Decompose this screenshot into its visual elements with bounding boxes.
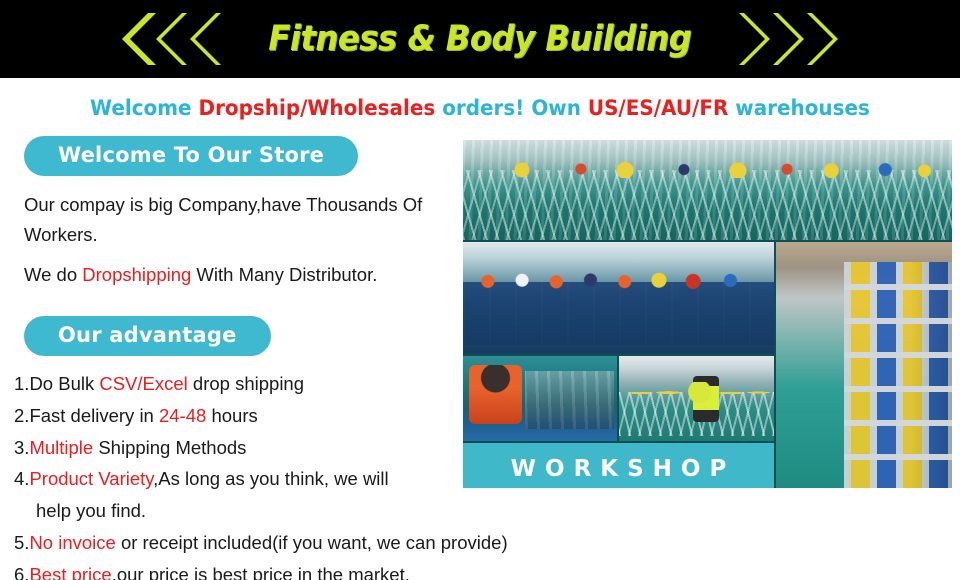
item-post: Shipping Methods (93, 437, 246, 458)
left-content-column: Welcome To Our Store Our compay is big C… (0, 136, 462, 580)
photo-collage: WORKSHOP (463, 140, 952, 488)
workshop-banner-bg: WORKSHOP (463, 443, 774, 488)
headline-part-dropship: Dropship/Wholesales (199, 96, 436, 120)
hi-vis-vest-worker (693, 376, 719, 422)
chevron-left-icon (156, 11, 190, 67)
item-highlight: CSV/Excel (99, 373, 187, 394)
advantage-list: 1.Do Bulk CSV/Excel drop shipping 2.Fast… (14, 368, 462, 580)
item-pre: Fast delivery in (29, 405, 159, 426)
item-number: 2. (14, 405, 29, 426)
item-highlight: 24-48 (159, 405, 206, 426)
chevron-right-icon (736, 11, 770, 67)
welcome-headline: Welcome Dropship/Wholesales orders! Own … (24, 96, 936, 120)
item-highlight: Best price (29, 564, 111, 580)
list-item: 4.Product Variety,As long as you think, … (14, 463, 494, 527)
dropshipping-highlight: Dropshipping (82, 264, 191, 285)
left-chevron-group (122, 11, 224, 67)
welcome-store-pill: Welcome To Our Store (24, 136, 358, 176)
advantage-pill-wrapper: Our advantage (0, 316, 462, 356)
packing-station-photo (463, 356, 617, 441)
promo-banner-page: Fitness & Body Building Welcome Dropship… (0, 0, 960, 580)
workshop-banner: WORKSHOP (463, 443, 774, 488)
factory-overview-photo (463, 140, 952, 240)
store-description-line1: Our compay is big Company,have Thousands… (24, 190, 454, 250)
packing-station-scene (463, 356, 617, 441)
assembly-line-scene (619, 356, 774, 441)
conveyor-sorting-photo (463, 242, 774, 354)
list-item: 2.Fast delivery in 24-48 hours (14, 400, 462, 432)
dropshipping-pre: We do (24, 264, 82, 285)
header-banner: Fitness & Body Building (0, 0, 960, 78)
banner-title: Fitness & Body Building (269, 19, 692, 59)
item-continuation: help you find. (14, 495, 494, 527)
item-post: ,As long as you think, we will (153, 468, 388, 489)
our-advantage-pill: Our advantage (24, 316, 271, 356)
chevron-left-icon (190, 11, 224, 67)
item-highlight: Multiple (29, 437, 93, 458)
right-chevron-group (736, 11, 838, 67)
item-highlight: No invoice (29, 532, 115, 553)
chevron-right-icon (804, 11, 838, 67)
warehouse-shelving-photo (776, 242, 952, 488)
headline-part-countries: US/ES/AU/FR (588, 96, 728, 120)
list-item: 3.Multiple Shipping Methods (14, 432, 462, 464)
headline-part-warehouses: warehouses (728, 96, 870, 120)
item-post: or receipt included(if you want, we can … (116, 532, 508, 553)
item-post: ,our price is best price in the market. (112, 564, 410, 580)
dropshipping-post: With Many Distributor. (191, 264, 377, 285)
warehouse-shelving-scene (776, 242, 952, 488)
item-number: 5. (14, 532, 29, 553)
list-item: 1.Do Bulk CSV/Excel drop shipping (14, 368, 462, 400)
headline-part-welcome: Welcome (90, 96, 198, 120)
chevron-left-icon (122, 11, 156, 67)
factory-overview-scene (463, 140, 952, 240)
item-highlight: Product Variety (29, 468, 153, 489)
item-number: 6. (14, 564, 29, 580)
item-number: 1. (14, 373, 29, 394)
item-pre: Do Bulk (29, 373, 99, 394)
chevron-right-icon (770, 11, 804, 67)
workshop-label: WORKSHOP (502, 456, 736, 482)
conveyor-sorting-scene (463, 242, 774, 354)
store-description-line2: We do Dropshipping With Many Distributor… (24, 260, 454, 290)
list-item: 5.No invoice or receipt included(if you … (14, 527, 462, 559)
item-post: drop shipping (188, 373, 304, 394)
item-number: 3. (14, 437, 29, 458)
item-number: 4. (14, 468, 29, 489)
assembly-line-photo (619, 356, 774, 441)
headline-part-orders: orders! Own (435, 96, 588, 120)
list-item: 6.Best price,our price is best price in … (14, 559, 462, 580)
item-post: hours (206, 405, 257, 426)
